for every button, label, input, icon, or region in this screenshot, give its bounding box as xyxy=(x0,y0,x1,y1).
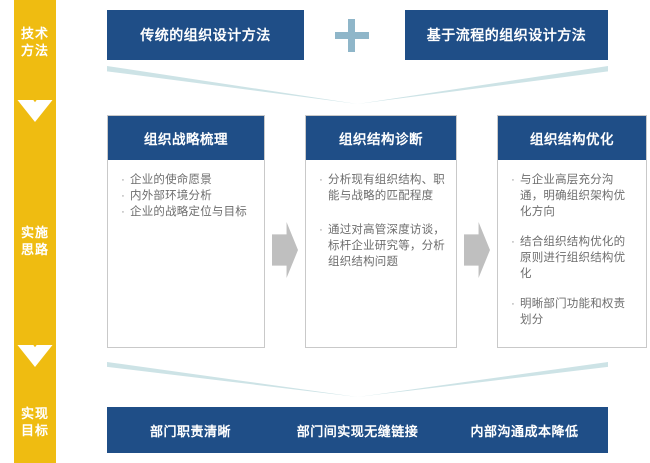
phase-label-implementation: 实施 思路 xyxy=(14,224,56,258)
bullet-dot-icon: · xyxy=(314,222,328,238)
bullet-item: · 分析现有组织结构、职能与战略的匹配程度 xyxy=(314,172,446,204)
bullet-item: · 内外部环境分析 xyxy=(116,188,254,204)
outcome-item-1[interactable]: 部门职责清晰 xyxy=(107,421,274,440)
bullet-dot-icon: · xyxy=(116,204,130,220)
bullet-item: · 通过对高管深度访谈，标杆企业研究等，分析组织结构问题 xyxy=(314,222,446,270)
outcome-item-2[interactable]: 部门间实现无缝链接 xyxy=(274,421,441,440)
step-card-3-body: · 与企业高层充分沟通，明确组织架构优化方向 · 结合组织结构优化的原则进行组织… xyxy=(498,160,646,350)
bullet-dot-icon: · xyxy=(506,172,520,188)
phase-label-goal-line1: 实现 xyxy=(14,405,56,422)
step-card-1-body: · 企业的使命愿景 · 内外部环境分析 · 企业的战略定位与目标 xyxy=(108,160,264,242)
step-card-3-title: 组织结构优化 xyxy=(498,116,646,160)
bullet-dot-icon: · xyxy=(506,296,520,312)
step-card-2-title: 组织结构诊断 xyxy=(306,116,456,160)
bullet-text: 与企业高层充分沟通，明确组织架构优化方向 xyxy=(520,172,636,220)
step-card-3[interactable]: 组织结构优化 · 与企业高层充分沟通，明确组织架构优化方向 · 结合组织结构优化… xyxy=(497,115,647,348)
plus-icon xyxy=(331,14,373,56)
bullet-text: 结合组织结构优化的原则进行组织结构优化 xyxy=(520,234,636,282)
bullet-text: 企业的使命愿景 xyxy=(130,172,254,188)
rail-notch-upper xyxy=(14,100,56,152)
bullet-dot-icon: · xyxy=(506,234,520,250)
phase-label-technique: 技术 方法 xyxy=(14,25,56,59)
phase-label-implementation-line2: 思路 xyxy=(14,241,56,258)
chevron-down-bottom-icon xyxy=(107,362,608,397)
bullet-item: · 企业的战略定位与目标 xyxy=(116,204,254,220)
rail-notch-lower xyxy=(14,345,56,397)
phase-label-technique-line1: 技术 xyxy=(14,25,56,42)
arrow-right-icon-1 xyxy=(272,222,298,278)
step-card-2[interactable]: 组织结构诊断 · 分析现有组织结构、职能与战略的匹配程度 · 通过对高管深度访谈… xyxy=(305,115,457,348)
arrow-right-icon-2 xyxy=(464,222,490,278)
bullet-item: · 企业的使命愿景 xyxy=(116,172,254,188)
step-card-1[interactable]: 组织战略梳理 · 企业的使命愿景 · 内外部环境分析 · 企业的战略定位与目标 xyxy=(107,115,265,348)
phase-label-implementation-line1: 实施 xyxy=(14,224,56,241)
phase-label-technique-line2: 方法 xyxy=(14,42,56,59)
bullet-item: · 明晰部门功能和权责划分 xyxy=(506,296,636,328)
chevron-down-top-icon xyxy=(107,66,608,104)
bullet-text: 明晰部门功能和权责划分 xyxy=(520,296,636,328)
step-card-1-title: 组织战略梳理 xyxy=(108,116,264,160)
outcome-bar: 部门职责清晰 部门间实现无缝链接 内部沟通成本降低 xyxy=(107,407,608,453)
bullet-text: 内外部环境分析 xyxy=(130,188,254,204)
outcome-item-3[interactable]: 内部沟通成本降低 xyxy=(441,421,608,440)
bullet-item: · 结合组织结构优化的原则进行组织结构优化 xyxy=(506,234,636,282)
phase-label-goal-line2: 目标 xyxy=(14,422,56,439)
method-box-process-based[interactable]: 基于流程的组织设计方法 xyxy=(405,10,608,60)
bullet-item: · 与企业高层充分沟通，明确组织架构优化方向 xyxy=(506,172,636,220)
bullet-text: 分析现有组织结构、职能与战略的匹配程度 xyxy=(328,172,446,204)
bullet-text: 通过对高管深度访谈，标杆企业研究等，分析组织结构问题 xyxy=(328,222,446,270)
bullet-dot-icon: · xyxy=(314,172,328,188)
method-box-traditional[interactable]: 传统的组织设计方法 xyxy=(107,10,304,60)
step-card-2-body: · 分析现有组织结构、职能与战略的匹配程度 · 通过对高管深度访谈，标杆企业研究… xyxy=(306,160,456,292)
diagram-canvas: 技术 方法 实施 思路 实现 目标 传统的组织设计方法 基于流程的组织设计方法 … xyxy=(0,0,650,463)
phase-label-goal: 实现 目标 xyxy=(14,405,56,439)
bullet-dot-icon: · xyxy=(116,188,130,204)
bullet-text: 企业的战略定位与目标 xyxy=(130,204,254,220)
bullet-dot-icon: · xyxy=(116,172,130,188)
